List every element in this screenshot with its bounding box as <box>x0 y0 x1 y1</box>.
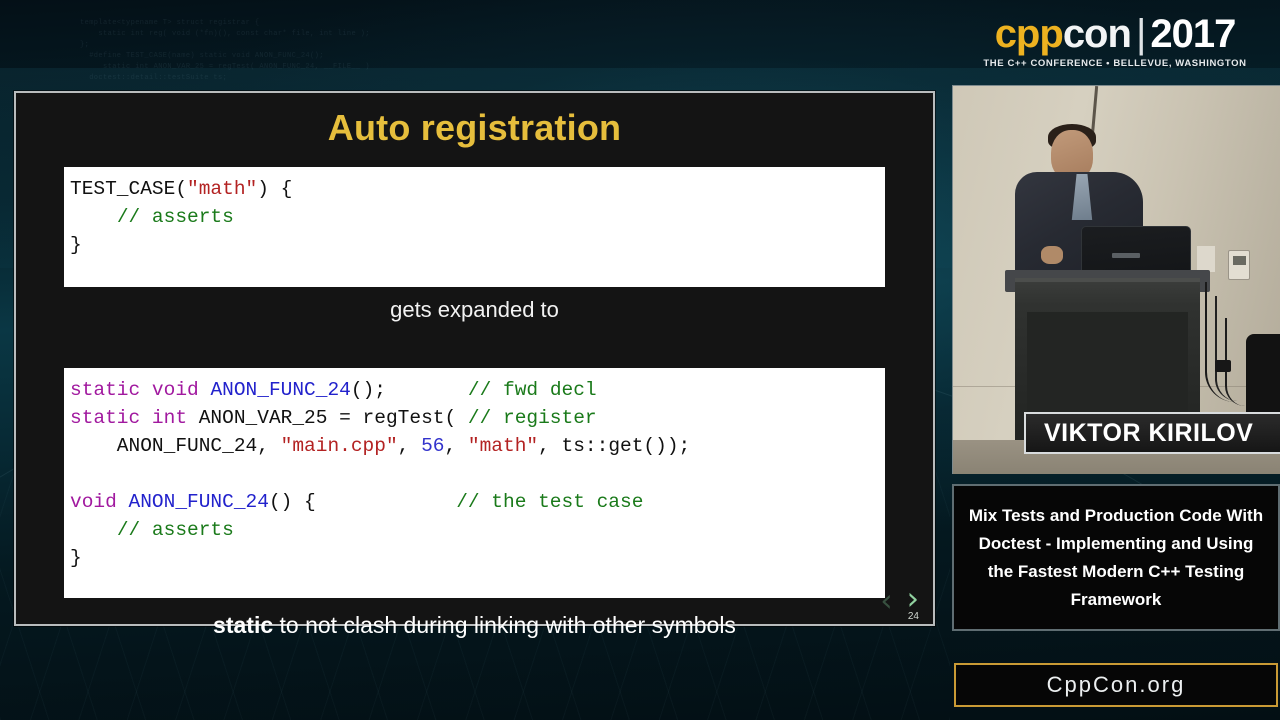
code-token-kw: void <box>70 491 129 513</box>
video-thermostat <box>1228 250 1250 280</box>
code-token-kw: static int <box>70 407 199 429</box>
code-token-pln: , <box>398 435 421 457</box>
code-token-pln: ANON_FUNC_24, <box>70 435 281 457</box>
previous-slide-icon[interactable]: ‹ <box>880 588 892 614</box>
code-token-cmt: // fwd decl <box>468 379 597 401</box>
slide-navigation[interactable]: ‹ › 24 <box>880 586 919 614</box>
cppcon-website-url: CppCon.org <box>1047 672 1186 698</box>
code-token-kw: static void <box>70 379 210 401</box>
slide-title: Auto registration <box>16 93 933 149</box>
logo-cpp-text: cpp <box>995 12 1063 56</box>
code-token-pln: ) { <box>257 178 292 200</box>
code-token-pln: ANON_VAR_25 = regTest( <box>199 407 468 429</box>
code-token-cmt: // asserts <box>117 519 234 541</box>
code-token-pln: (); <box>351 379 468 401</box>
code-token-str: "main.cpp" <box>281 435 398 457</box>
logo-subtitle: THE C++ CONFERENCE • BELLEVUE, WASHINGTO… <box>983 58 1246 69</box>
code-token-str: "math" <box>187 178 257 200</box>
speaker-name-banner: VIKTOR KIRILOV <box>1024 412 1280 454</box>
logo-year: 2017 <box>1150 12 1235 56</box>
code-block-expanded-macro: static void ANON_FUNC_24(); // fwd decls… <box>64 368 885 598</box>
code-line: // asserts <box>70 516 885 544</box>
code-token-pln <box>70 519 117 541</box>
video-cable-connector <box>1215 360 1231 372</box>
code-line: void ANON_FUNC_24() { // the test case <box>70 488 885 516</box>
code-token-cmt: // the test case <box>456 491 643 513</box>
code-token-str: "math" <box>468 435 538 457</box>
slide-caption: static to not clash during linking with … <box>16 612 933 639</box>
cppcon-logo: cppcon|2017 THE C++ CONFERENCE • BELLEVU… <box>950 0 1280 82</box>
video-laptop-logo <box>1112 253 1140 258</box>
cppcon-website-banner[interactable]: CppCon.org <box>954 663 1278 707</box>
code-token-pln: } <box>70 234 82 256</box>
code-token-cmt: // register <box>468 407 597 429</box>
talk-title-panel: Mix Tests and Production Code With Docte… <box>952 484 1280 631</box>
speaker-name: VIKTOR KIRILOV <box>1044 419 1253 448</box>
gets-expanded-to-label: gets expanded to <box>16 297 933 323</box>
logo-con-text: con <box>1063 12 1131 56</box>
talk-title: Mix Tests and Production Code With Docte… <box>964 502 1268 614</box>
presentation-slide: Auto registration TEST_CASE("math") { //… <box>14 91 935 626</box>
code-token-pln: , ts::get()); <box>538 435 690 457</box>
code-line: // asserts <box>70 203 885 231</box>
logo-separator: | <box>1136 12 1145 56</box>
code-line: ANON_FUNC_24, "main.cpp", 56, "math", ts… <box>70 432 885 460</box>
code-token-fn: ANON_FUNC_24 <box>210 379 350 401</box>
code-token-pln: TEST_CASE( <box>70 178 187 200</box>
video-thermostat-screen <box>1233 256 1246 265</box>
video-wall-plate <box>1197 246 1215 272</box>
cppcon-logo-wordmark: cppcon|2017 <box>995 13 1236 55</box>
code-token-pln: () { <box>269 491 456 513</box>
slide-caption-keyword: static <box>213 612 273 638</box>
code-token-num: 56 <box>421 435 444 457</box>
code-token-pln <box>70 206 117 228</box>
code-token-pln: , <box>444 435 467 457</box>
slide-caption-text: to not clash during linking with other s… <box>273 612 736 638</box>
slide-number: 24 <box>908 611 919 622</box>
code-line: TEST_CASE("math") { <box>70 175 885 203</box>
code-token-pln: } <box>70 547 82 569</box>
code-block-test-case: TEST_CASE("math") { // asserts} <box>64 167 885 287</box>
code-token-fn: ANON_FUNC_24 <box>129 491 269 513</box>
code-token-cmt: // asserts <box>117 206 234 228</box>
video-speaker-hand <box>1041 246 1063 264</box>
code-line: } <box>70 544 885 572</box>
code-line: static void ANON_FUNC_24(); // fwd decl <box>70 376 885 404</box>
code-line <box>70 460 885 488</box>
code-line: static int ANON_VAR_25 = regTest( // reg… <box>70 404 885 432</box>
code-line: } <box>70 231 885 259</box>
